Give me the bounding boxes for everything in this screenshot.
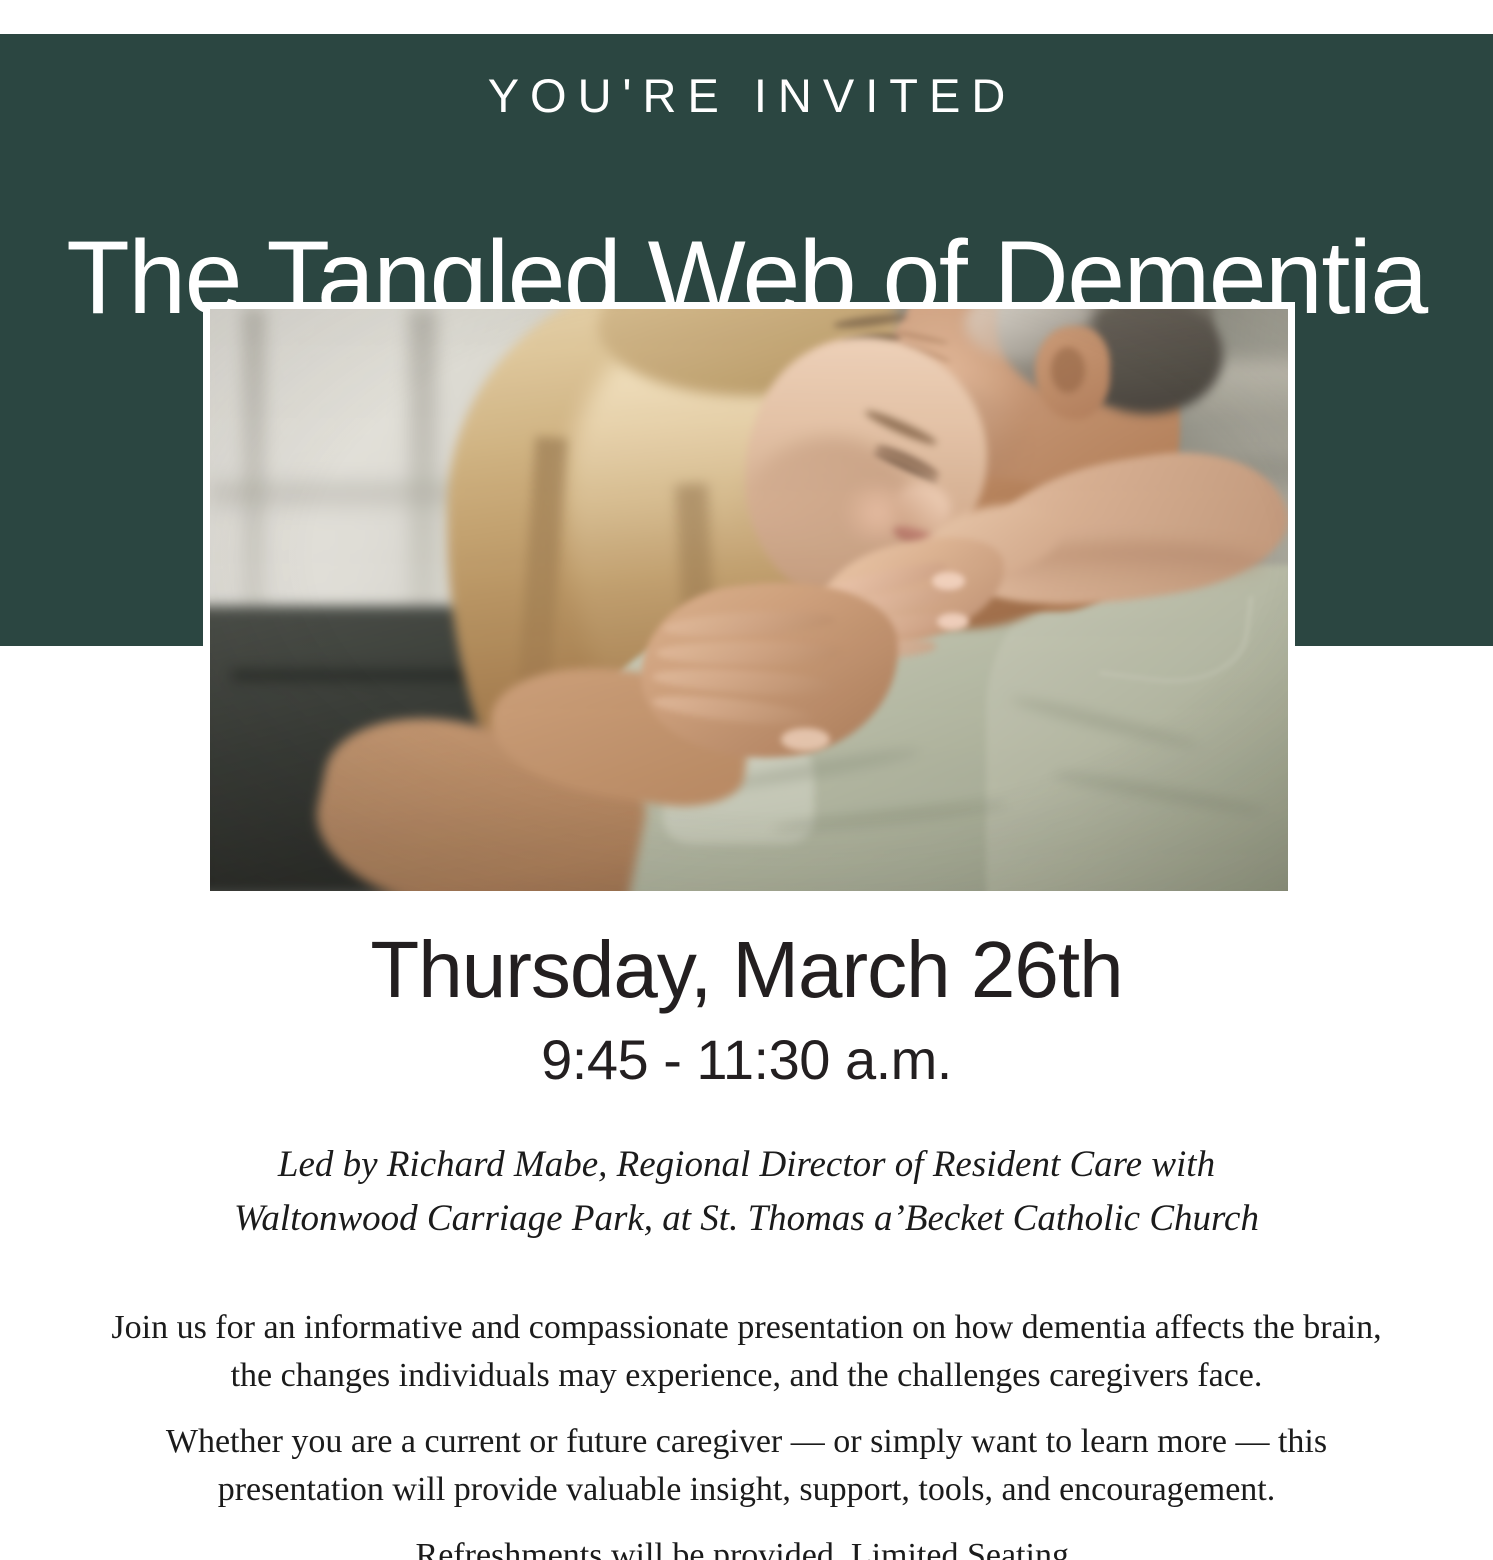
presenter-block: Led by Richard Mabe, Regional Director o… xyxy=(140,1138,1353,1246)
body-paragraph-1: Join us for an informative and compassio… xyxy=(96,1304,1397,1401)
invitation-flyer: YOU'RE INVITED The Tangled Web of Dement… xyxy=(0,0,1493,1560)
event-date: Thursday, March 26th xyxy=(0,930,1493,1010)
presenter-line-2: Waltonwood Carriage Park, at St. Thomas … xyxy=(140,1192,1353,1246)
presenter-line-1: Led by Richard Mabe, Regional Director o… xyxy=(140,1138,1353,1192)
body-paragraph-2: Whether you are a current or future care… xyxy=(96,1418,1397,1515)
eyebrow-youre-invited: YOU'RE INVITED xyxy=(0,72,1493,119)
hero-photo-frame xyxy=(203,302,1295,898)
body-paragraph-3: Refreshments will be provided. Limited S… xyxy=(96,1532,1397,1560)
photo-vignette-overlay xyxy=(210,309,1288,891)
hero-photo xyxy=(210,309,1288,891)
event-time: 9:45 - 11:30 a.m. xyxy=(0,1032,1493,1088)
